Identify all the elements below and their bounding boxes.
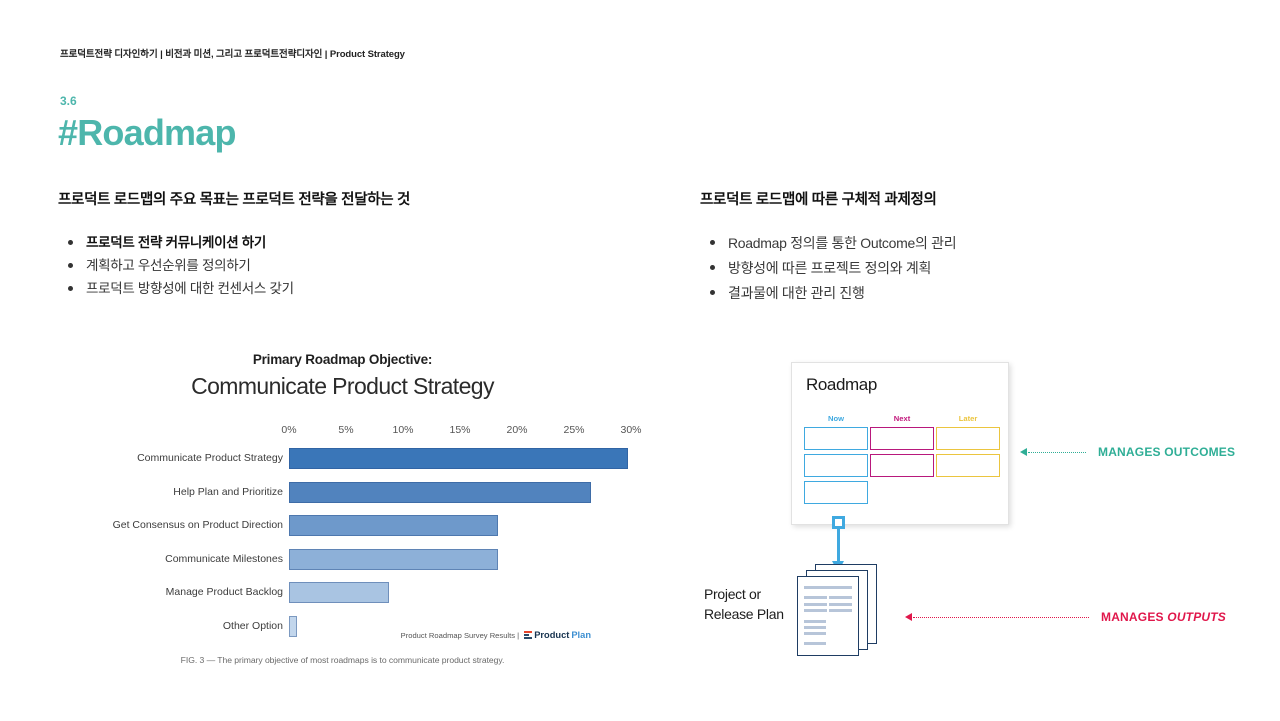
x-axis-tick: 15% [449,424,470,436]
bar-category-label: Get Consensus on Product Direction [113,519,283,531]
connector-line [837,528,840,564]
list-item: 계획하고 우선순위를 정의하기 [58,254,658,277]
chart-bar [289,549,498,570]
left-text-column: 프로덕트 로드맵의 주요 목표는 프로덕트 전략을 전달하는 것 프로덕트 전략… [58,188,658,300]
list-item: Roadmap 정의를 통한 Outcome의 관리 [700,231,1220,256]
roadmap-item-now-3[interactable] [804,481,868,504]
bar-category-label: Manage Product Backlog [166,586,283,598]
list-item: 방향성에 따른 프로젝트 정의와 계획 [700,256,1220,281]
left-column-heading: 프로덕트 로드맵의 주요 목표는 프로덕트 전략을 전달하는 것 [58,188,658,209]
chart-bar [289,582,389,603]
list-item: 프로덕트 방향성에 대한 컨센서스 갖기 [58,277,658,300]
annotation-manages-outcomes: MANAGES OUTCOMES [1020,445,1235,459]
bar-category-label: Communicate Product Strategy [137,452,283,464]
annotation-label: MANAGES OUTCOMES [1098,445,1235,459]
x-axis-tick: 10% [392,424,413,436]
chart-row: Get Consensus on Product Direction [95,513,590,547]
chart-bars: Communicate Product StrategyHelp Plan an… [95,446,590,647]
chart-bar [289,616,297,637]
bar-category-label: Other Option [223,620,283,632]
roadmap-item-next-2[interactable] [870,454,934,477]
chart-subtitle: Primary Roadmap Objective: [95,352,590,367]
chart-plot-area: 0%5%10%15%20%25%30% Communicate Product … [95,424,590,639]
list-item: 결과물에 대한 관리 진행 [700,281,1220,306]
chart-bar [289,515,498,536]
roadmap-card-title: Roadmap [806,375,877,395]
roadmap-item-later-1[interactable] [936,427,1000,450]
chart-row: Communicate Milestones [95,547,590,581]
list-item: 프로덕트 전략 커뮤니케이션 하기 [58,231,658,254]
x-axis-tick: 0% [281,424,296,436]
chart-source-credit: Product Roadmap Survey Results | Product… [373,630,591,640]
x-axis-tick: 25% [563,424,584,436]
annotation-label: MANAGES OUTPUTS [1101,610,1226,624]
productplan-logo: ProductPlan [524,630,591,640]
x-axis-tick: 30% [620,424,641,436]
dotted-connector-line [913,617,1089,618]
roadmap-diagram: Roadmap Now Next Later Project or Releas… [690,352,1250,672]
chart-row: Communicate Product Strategy [95,446,590,480]
roadmap-column-header-later: Later [936,414,1000,423]
release-plan-documents-icon [797,564,889,660]
dotted-connector-line [1028,452,1086,453]
x-axis-tick: 5% [338,424,353,436]
brand-part-2: Plan [571,630,591,640]
productplan-mark-icon [524,631,532,639]
bar-chart-figure: Primary Roadmap Objective: Communicate P… [95,352,590,677]
chart-title: Communicate Product Strategy [95,373,590,400]
arrow-left-icon [1020,448,1027,456]
release-plan-label-line1: Project or [704,584,784,604]
right-column-heading: 프로덕트 로드맵에 따른 구체적 과제정의 [700,188,1220,209]
document-sheet-front [797,576,859,656]
chart-row: Manage Product Backlog [95,580,590,614]
document-content-lines [804,586,852,648]
page-title: #Roadmap [58,112,236,154]
chart-x-axis-ticks: 0%5%10%15%20%25%30% [289,424,631,442]
roadmap-item-now-2[interactable] [804,454,868,477]
chart-bar [289,482,591,503]
breadcrumb: 프로덕트전략 디자인하기 | 비전과 미션, 그리고 프로덕트전략디자인 | P… [60,46,405,60]
arrow-left-icon [905,613,912,621]
bar-category-label: Help Plan and Prioritize [173,486,283,498]
roadmap-item-now-1[interactable] [804,427,868,450]
annotation-manages-outputs: MANAGES OUTPUTS [905,610,1226,624]
chart-source-text: Product Roadmap Survey Results | [401,631,519,640]
x-axis-tick: 20% [506,424,527,436]
annotation-label-emphasis: OUTPUTS [1167,610,1226,624]
right-text-column: 프로덕트 로드맵에 따른 구체적 과제정의 Roadmap 정의를 통한 Out… [700,188,1220,306]
roadmap-column-header-now: Now [804,414,868,423]
roadmap-item-next-1[interactable] [870,427,934,450]
roadmap-card: Roadmap Now Next Later [791,362,1009,525]
bar-category-label: Communicate Milestones [165,553,283,565]
annotation-label-plain: MANAGES [1101,610,1167,624]
left-bullet-list: 프로덕트 전략 커뮤니케이션 하기 계획하고 우선순위를 정의하기 프로덕트 방… [58,231,658,300]
right-bullet-list: Roadmap 정의를 통한 Outcome의 관리 방향성에 따른 프로젝트 … [700,231,1220,306]
release-plan-label-line2: Release Plan [704,604,784,624]
brand-part-1: Product [534,630,569,640]
roadmap-item-later-2[interactable] [936,454,1000,477]
figure-caption: FIG. 3 — The primary objective of most r… [95,655,590,665]
chart-bar [289,448,628,469]
roadmap-column-header-next: Next [870,414,934,423]
chart-row: Help Plan and Prioritize [95,480,590,514]
release-plan-label: Project or Release Plan [704,584,784,624]
section-number: 3.6 [60,94,77,108]
